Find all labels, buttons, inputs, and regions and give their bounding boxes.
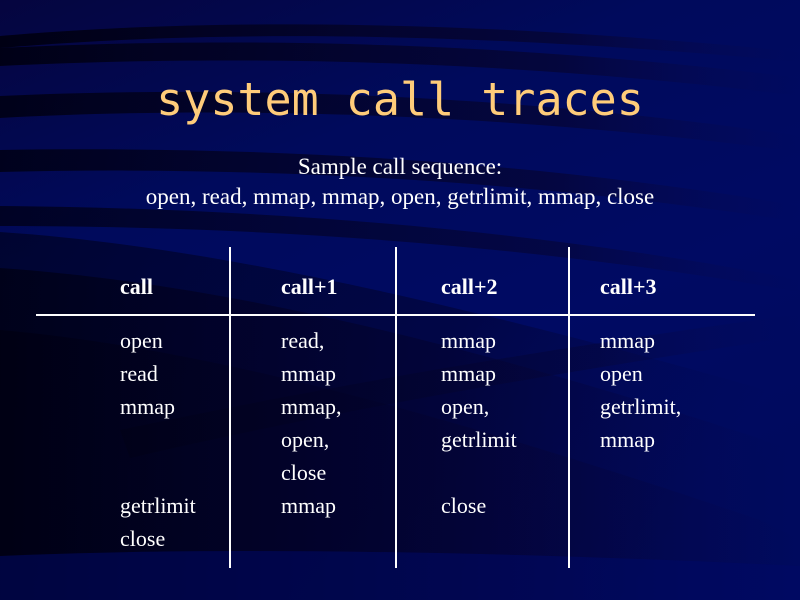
- table-cell-column-1: open read mmap getrlimit close: [120, 324, 225, 555]
- table-cell-column-2: read, mmap mmap, open, close mmap: [281, 324, 391, 522]
- column-separator-3: [568, 247, 570, 568]
- table-header-call-plus-2: call+2: [441, 274, 498, 300]
- table-header-call-plus-3: call+3: [600, 274, 657, 300]
- call-trace-table: call call+1 call+2 call+3 open read mmap…: [0, 0, 800, 600]
- table-header-call-plus-1: call+1: [281, 274, 338, 300]
- table-cell-column-3: mmap mmap open, getrlimit close: [441, 324, 566, 522]
- table-cell-column-4: mmap open getrlimit, mmap: [600, 324, 750, 456]
- column-separator-2: [395, 247, 397, 568]
- header-rule: [36, 314, 755, 316]
- table-header-call: call: [120, 274, 153, 300]
- slide-content: system call traces Sample call sequence:…: [0, 0, 800, 600]
- column-separator-1: [229, 247, 231, 568]
